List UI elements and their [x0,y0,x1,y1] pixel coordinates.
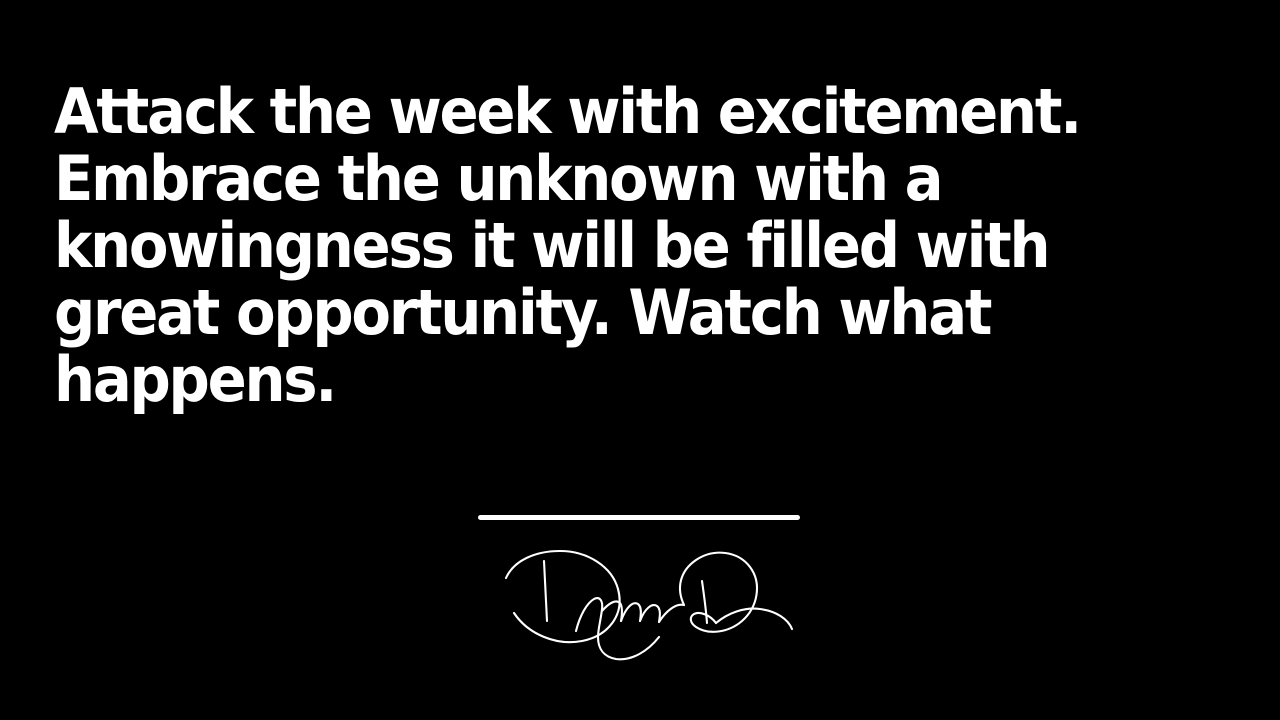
quote-line-2: Embrace the unknown with a [54,145,1096,212]
quote-slide: Attack the week with excitement. Embrace… [0,0,1280,720]
quote-line-3: knowingness it will be filled with [54,212,1096,279]
signature-rule-divider [478,515,800,520]
quote-text-block: Attack the week with excitement. Embrace… [54,78,1174,413]
signature-area [0,495,1280,675]
quote-line-4: great opportunity. Watch what [54,279,1096,346]
quote-line-5: happens. [54,346,1096,413]
handwritten-signature [470,533,820,663]
quote-line-1: Attack the week with excitement. [54,78,1096,145]
